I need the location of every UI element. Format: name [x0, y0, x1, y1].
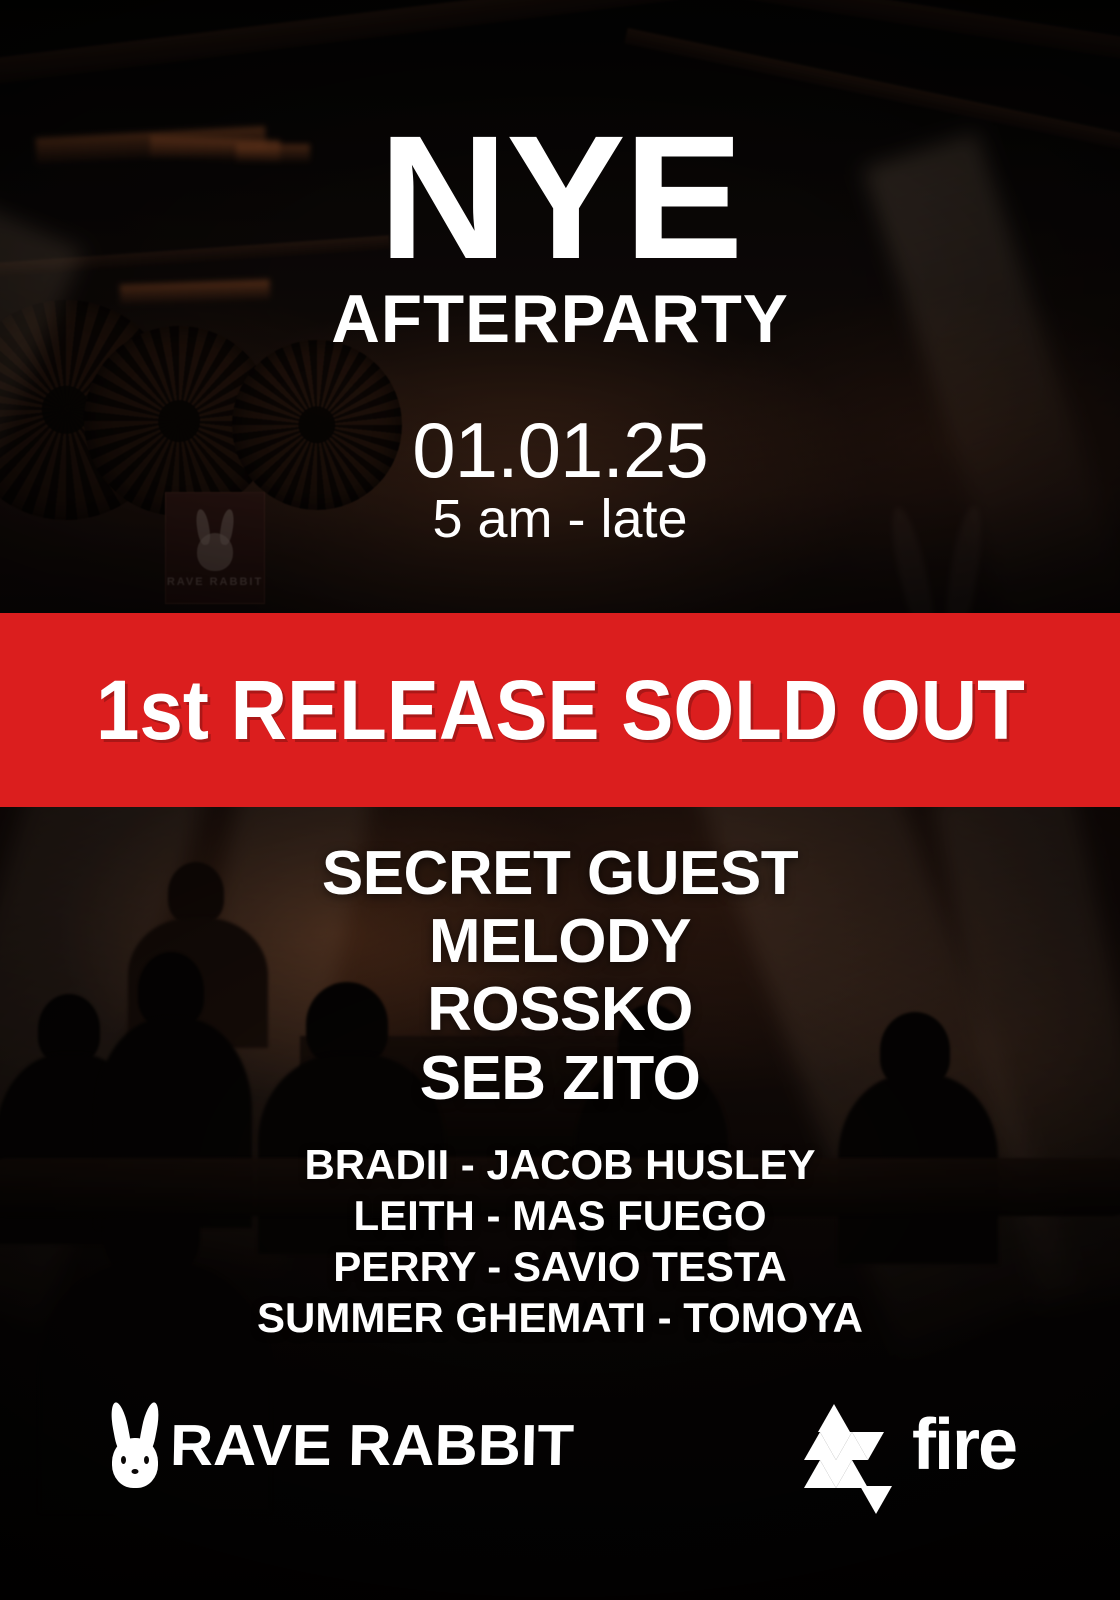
support-artist-line: BRADII - JACOB HUSLEY: [0, 1139, 1120, 1190]
triangle-grid-icon: [804, 1402, 896, 1488]
rabbit-eye-left-icon: [121, 1456, 126, 1464]
lineup-block: SECRET GUEST MELODY ROSSKO SEB ZITO BRAD…: [0, 840, 1120, 1344]
page-title: NYE: [0, 118, 1120, 280]
triangle-icon: [836, 1460, 868, 1488]
support-artist-line: SUMMER GHEMATI - TOMOYA: [0, 1292, 1120, 1343]
support-artist-line: PERRY - SAVIO TESTA: [0, 1241, 1120, 1292]
headliner-name: SEB ZITO: [0, 1045, 1120, 1113]
triangle-icon: [818, 1404, 850, 1432]
sold-out-banner-text: 1st RELEASE SOLD OUT: [96, 662, 1025, 759]
event-poster: RAVE RABBIT: [0, 0, 1120, 1600]
fire-venue-logo: fire: [804, 1402, 1016, 1488]
event-time: 5 am - late: [0, 491, 1120, 548]
support-lineup-list: BRADII - JACOB HUSLEY LEITH - MAS FUEGO …: [0, 1139, 1120, 1344]
rabbit-nose-icon: [131, 1469, 138, 1474]
triangle-icon: [852, 1432, 884, 1460]
rabbit-eye-right-icon: [144, 1456, 149, 1464]
headliner-name: SECRET GUEST: [0, 840, 1120, 908]
headliner-name: ROSSKO: [0, 976, 1120, 1044]
support-artist-line: LEITH - MAS FUEGO: [0, 1190, 1120, 1241]
event-date: 01.01.25: [0, 411, 1120, 489]
rave-rabbit-wordmark: RAVE RABBIT: [169, 1412, 574, 1479]
title-block: NYE AFTERPARTY 01.01.25 5 am - late: [0, 118, 1120, 548]
rabbit-head-shape: [112, 1438, 158, 1488]
headliner-name: MELODY: [0, 908, 1120, 976]
logo-row: RAVE RABBIT fire: [0, 1402, 1120, 1488]
rave-rabbit-logo: RAVE RABBIT: [104, 1402, 568, 1488]
fire-wordmark: fire: [912, 1409, 1016, 1481]
subtitle: AFTERPARTY: [6, 284, 1115, 355]
rabbit-head-icon: [104, 1402, 166, 1488]
sold-out-banner: 1st RELEASE SOLD OUT: [0, 613, 1120, 807]
triangle-icon: [860, 1486, 892, 1514]
